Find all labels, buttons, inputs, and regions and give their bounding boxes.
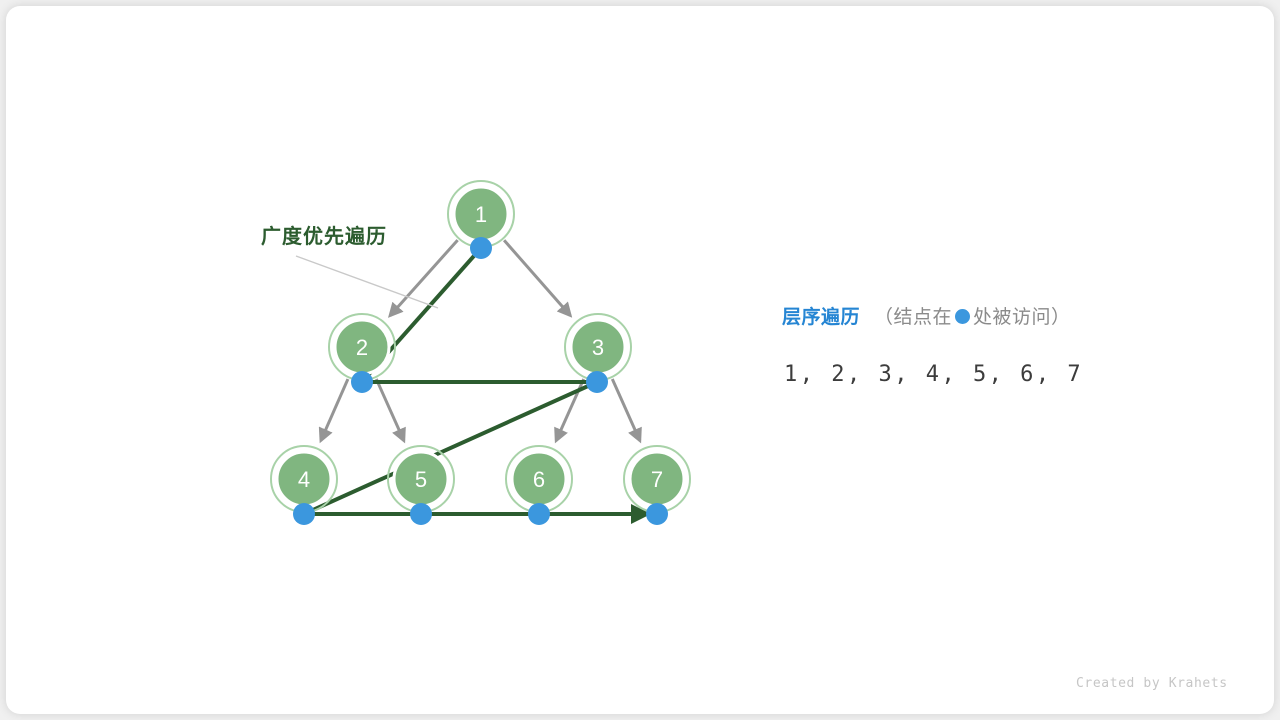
tree-traversal-figure: 1234567 广度优先遍历 — [0, 0, 1280, 720]
node-label-6: 6 — [533, 467, 545, 492]
node-label-2: 2 — [356, 335, 368, 360]
tree-node-6: 6 — [506, 446, 572, 512]
tree-edge-1-3 — [504, 240, 570, 315]
tree-node-4: 4 — [271, 446, 337, 512]
label-leader-line — [296, 256, 438, 308]
legend-block: 层序遍历（结点在处被访问） — [782, 302, 1202, 329]
tree-edge-3-7 — [612, 379, 640, 441]
visit-dot-1 — [470, 237, 492, 259]
legend-note-before: （结点在 — [874, 307, 952, 328]
tree-node-5: 5 — [388, 446, 454, 512]
tree-node-2: 2 — [329, 314, 395, 380]
credit-text: Created by Krahets — [1076, 676, 1228, 691]
diagram-canvas: 1234567 广度优先遍历 层序遍历（结点在处被访问） 1, 2, 3, 4,… — [0, 0, 1280, 720]
visit-dot-6 — [528, 503, 550, 525]
tree-edge-2-5 — [376, 379, 404, 441]
tree-node-3: 3 — [565, 314, 631, 380]
visit-dot-4 — [293, 503, 315, 525]
tree-node-7: 7 — [624, 446, 690, 512]
node-label-5: 5 — [415, 467, 427, 492]
legend-note: （结点在处被访问） — [874, 302, 1071, 329]
node-label-3: 3 — [592, 335, 604, 360]
visit-dot-2 — [351, 371, 373, 393]
traversal-sequence: 1, 2, 3, 4, 5, 6, 7 — [784, 362, 1083, 387]
visit-point-icon — [955, 309, 970, 324]
node-label-4: 4 — [298, 467, 310, 492]
legend-title: 层序遍历 — [782, 302, 860, 329]
node-label-1: 1 — [475, 202, 487, 227]
visit-dot-3 — [586, 371, 608, 393]
legend-note-after: 处被访问） — [973, 307, 1071, 328]
node-label-7: 7 — [651, 467, 663, 492]
tree-edge-2-4 — [321, 379, 348, 441]
bfs-label-text: 广度优先遍历 — [261, 224, 387, 248]
tree-edge-1-2 — [390, 240, 458, 316]
visit-dot-5 — [410, 503, 432, 525]
visit-dot-7 — [646, 503, 668, 525]
